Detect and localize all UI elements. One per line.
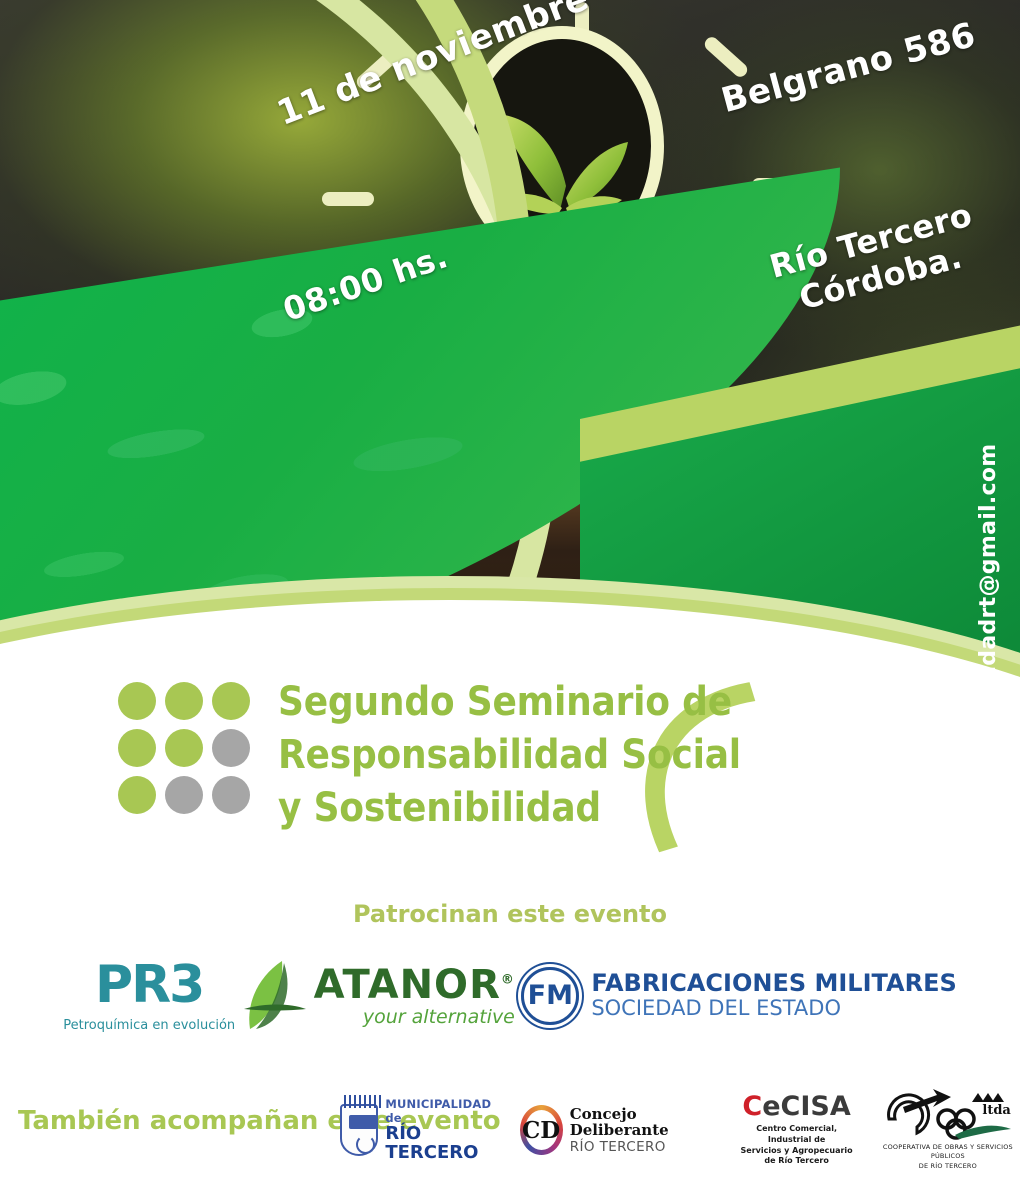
partner-logo-cecisa: CeCISA Centro Comercial, Industrial de S… <box>735 1093 857 1167</box>
municipalidad-line-1: MUNICIPALIDAD de <box>385 1097 501 1125</box>
sponsor-logo-pr3: PR3 Petroquímica en evolución <box>63 959 235 1033</box>
hero-image-area: 11 de noviembre 08:00 hs. Belgrano 586 R… <box>0 0 1020 660</box>
pr3-tagline: Petroquímica en evolución <box>63 1018 235 1033</box>
cooperativa-ltda-label: ltda <box>982 1103 1010 1118</box>
crest-sun-rays-icon <box>344 1095 384 1108</box>
concejo-line-1: Concejo Deliberante <box>570 1106 718 1139</box>
seminar-title-block: Segundo Seminario de Responsabilidad Soc… <box>118 676 741 834</box>
concejo-circle-icon: CD <box>520 1105 563 1155</box>
sponsor-logo-atanor: ATANOR® your alternative <box>242 959 515 1033</box>
logo-dot <box>165 776 203 814</box>
partner-logo-municipalidad: MUNICIPALIDAD de RÍO TERCERO <box>340 1097 502 1163</box>
logo-dot <box>118 729 156 767</box>
atanor-registered-mark: ® <box>501 972 515 987</box>
logo-dot <box>118 682 156 720</box>
pr3-wordmark: PR3 <box>63 959 235 1011</box>
cooperativa-mark-icon: ltda <box>883 1089 1013 1141</box>
logo-dot <box>212 729 250 767</box>
poster-canvas: 11 de noviembre 08:00 hs. Belgrano 586 R… <box>0 0 1020 1191</box>
concejo-line-2: RÍO TERCERO <box>570 1139 718 1155</box>
municipalidad-line-2: RÍO TERCERO <box>385 1125 501 1163</box>
fm-line-2: SOCIEDAD DEL ESTADO <box>591 997 956 1020</box>
atanor-wordmark: ATANOR <box>314 962 501 1008</box>
cooperativa-subtitle: COOPERATIVA DE OBRAS Y SERVICIOS PÚBLICO… <box>876 1143 1020 1170</box>
municipalidad-crest-icon <box>340 1104 378 1156</box>
logo-dot <box>118 776 156 814</box>
dot-grid-logo <box>118 682 250 814</box>
atanor-tagline: your alternative <box>314 1008 515 1027</box>
partner-logo-cooperativa: ltda COOPERATIVA DE OBRAS Y SERVICIOS PÚ… <box>876 1089 1020 1170</box>
concejo-monogram: CD <box>522 1117 560 1144</box>
contact-email-text[interactable]: sustentabilidadrt@gmail.com <box>976 430 1020 830</box>
logo-dot <box>212 776 250 814</box>
sponsors-heading: Patrocinan este evento <box>0 900 1020 928</box>
partner-logo-row: MUNICIPALIDAD de RÍO TERCERO CD Concejo … <box>340 1080 1020 1180</box>
atanor-leaf-icon <box>242 959 308 1033</box>
cecisa-subtitle: Centro Comercial, Industrial de Servicio… <box>735 1124 857 1167</box>
sponsor-logo-fabricaciones-militares: FM FABRICACIONES MILITARES SOCIEDAD DEL … <box>521 967 956 1025</box>
logo-dot <box>165 729 203 767</box>
partner-logo-concejo-deliberante: CD Concejo Deliberante RÍO TERCERO <box>520 1105 718 1155</box>
cecisa-initial: C <box>742 1091 762 1122</box>
page-title: Segundo Seminario de Responsabilidad Soc… <box>278 676 741 834</box>
logo-dot <box>212 682 250 720</box>
logo-dot <box>165 682 203 720</box>
cecisa-wordmark: eCISA <box>762 1091 851 1122</box>
sponsor-logo-row: PR3 Petroquímica en evolución ATANOR® yo… <box>0 948 1020 1043</box>
fm-line-1: FABRICACIONES MILITARES <box>591 971 956 997</box>
fm-monogram-icon: FM <box>521 967 579 1025</box>
